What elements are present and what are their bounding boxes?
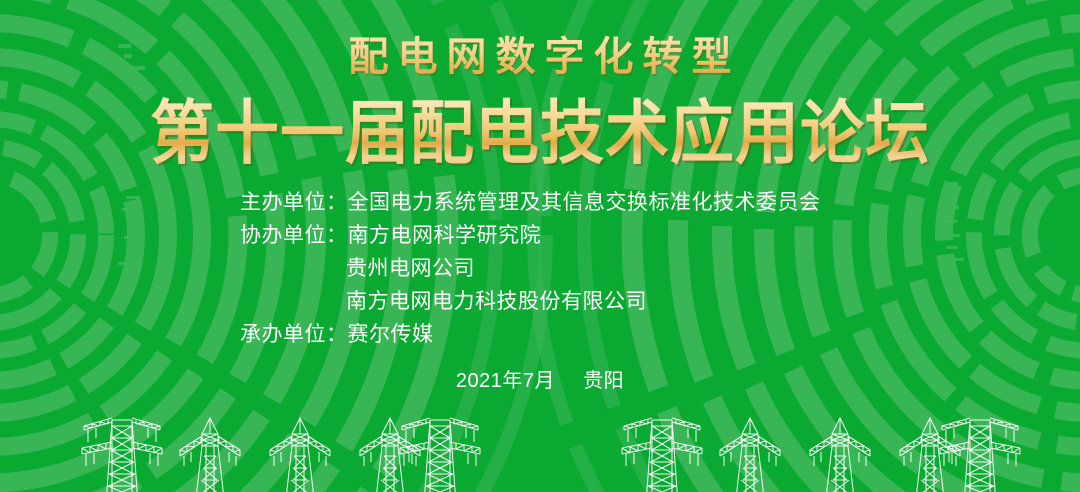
event-date: 2021年7月 [456,370,555,392]
organizer-line-coorganizer-2: 贵州电网公司 [240,252,821,285]
banner-main-title: 第十一届配电技术应用论坛 [0,92,1080,174]
organizer-value-coorganizer: 南方电网科学研究院 [348,224,542,247]
organizer-value-host: 全国电力系统管理及其信息交换标准化技术委员会 [348,191,821,214]
organizer-value-undertaker: 赛尔传媒 [348,323,434,346]
banner-content: 配电网数字化转型 第十一届配电技术应用论坛 主办单位：全国电力系统管理及其信息交… [0,0,1080,492]
banner-subtitle: 配电网数字化转型 [0,33,1080,81]
event-city: 贵阳 [583,370,624,392]
organizer-line-host: 主办单位：全国电力系统管理及其信息交换标准化技术委员会 [240,186,821,219]
organizer-block: 主办单位：全国电力系统管理及其信息交换标准化技术委员会 协办单位：南方电网科学研… [240,186,821,351]
organizer-line-coorganizer-3: 南方电网电力科技股份有限公司 [240,285,821,318]
organizer-value-coorganizer-3: 南方电网电力科技股份有限公司 [346,290,647,313]
organizer-label-coorganizer: 协办单位： [240,219,348,252]
organizer-line-undertaker: 承办单位：赛尔传媒 [240,318,821,351]
conference-banner: 配电网数字化转型 第十一届配电技术应用论坛 主办单位：全国电力系统管理及其信息交… [0,0,1080,492]
organizer-label-undertaker: 承办单位： [240,318,348,351]
organizer-value-coorganizer-2: 贵州电网公司 [346,257,475,280]
organizer-label-host: 主办单位： [240,186,348,219]
organizer-line-coorganizer: 协办单位：南方电网科学研究院 [240,219,821,252]
event-date-location: 2021年7月 贵阳 [0,364,1080,393]
